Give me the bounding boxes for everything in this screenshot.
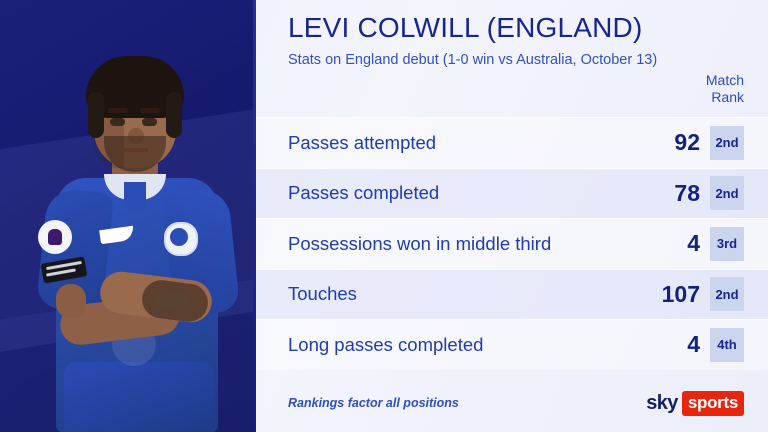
player-nose: [128, 128, 144, 144]
match-rank-column-header: Match Rank: [686, 72, 744, 106]
stats-table: Passes attempted 92 2nd Passes completed…: [256, 117, 768, 370]
stat-value: 4: [634, 230, 710, 257]
player-shorts: [64, 362, 214, 432]
player-portrait: [16, 32, 256, 432]
stat-label: Possessions won in middle third: [288, 233, 634, 255]
status-badge: 4th: [710, 328, 744, 362]
page-title: LEVI COLWILL (ENGLAND): [288, 12, 642, 44]
stat-value: 4: [634, 331, 710, 358]
match-rank-header-line-1: Match: [686, 72, 744, 89]
table-row: Touches 107 2nd: [256, 269, 768, 320]
player-photo-panel: [0, 0, 256, 432]
stat-value: 78: [634, 180, 710, 207]
table-row: Passes completed 78 2nd: [256, 168, 768, 219]
sky-logo-word: sky: [646, 392, 682, 415]
page-subtitle: Stats on England debut (1-0 win vs Austr…: [288, 52, 657, 68]
table-row: Passes attempted 92 2nd: [256, 117, 768, 168]
status-badge: 2nd: [710, 176, 744, 210]
stats-graphic: LEVI COLWILL (ENGLAND) Stats on England …: [0, 0, 768, 432]
status-badge: 2nd: [710, 126, 744, 160]
player-hand: [56, 284, 86, 318]
stats-content: LEVI COLWILL (ENGLAND) Stats on England …: [256, 0, 768, 432]
match-rank-header-line-2: Rank: [686, 89, 744, 106]
footnote: Rankings factor all positions: [288, 396, 459, 410]
player-eye-left: [110, 118, 125, 126]
stat-label: Passes completed: [288, 182, 634, 204]
player-eye-right: [142, 118, 157, 126]
player-hair-side-right: [166, 92, 182, 138]
stat-label: Passes attempted: [288, 132, 634, 154]
status-badge: 2nd: [710, 277, 744, 311]
stat-label: Touches: [288, 283, 634, 305]
sports-logo-word: sports: [682, 391, 744, 416]
stat-value: 107: [634, 281, 710, 308]
player-hair-side-left: [88, 92, 104, 138]
table-row: Long passes completed 4 4th: [256, 319, 768, 370]
sky-sports-logo: sky sports: [646, 391, 744, 415]
premier-league-lion-icon: [48, 229, 62, 245]
stat-label: Long passes completed: [288, 334, 634, 356]
player-eyebrow-right: [140, 108, 160, 113]
player-eyebrow-left: [108, 108, 128, 113]
table-row: Possessions won in middle third 4 3rd: [256, 218, 768, 269]
player-mouth: [124, 148, 148, 152]
shirt-collar-v: [124, 182, 146, 212]
status-badge: 3rd: [710, 227, 744, 261]
stat-value: 92: [634, 129, 710, 156]
chelsea-crest-inner: [170, 228, 188, 246]
